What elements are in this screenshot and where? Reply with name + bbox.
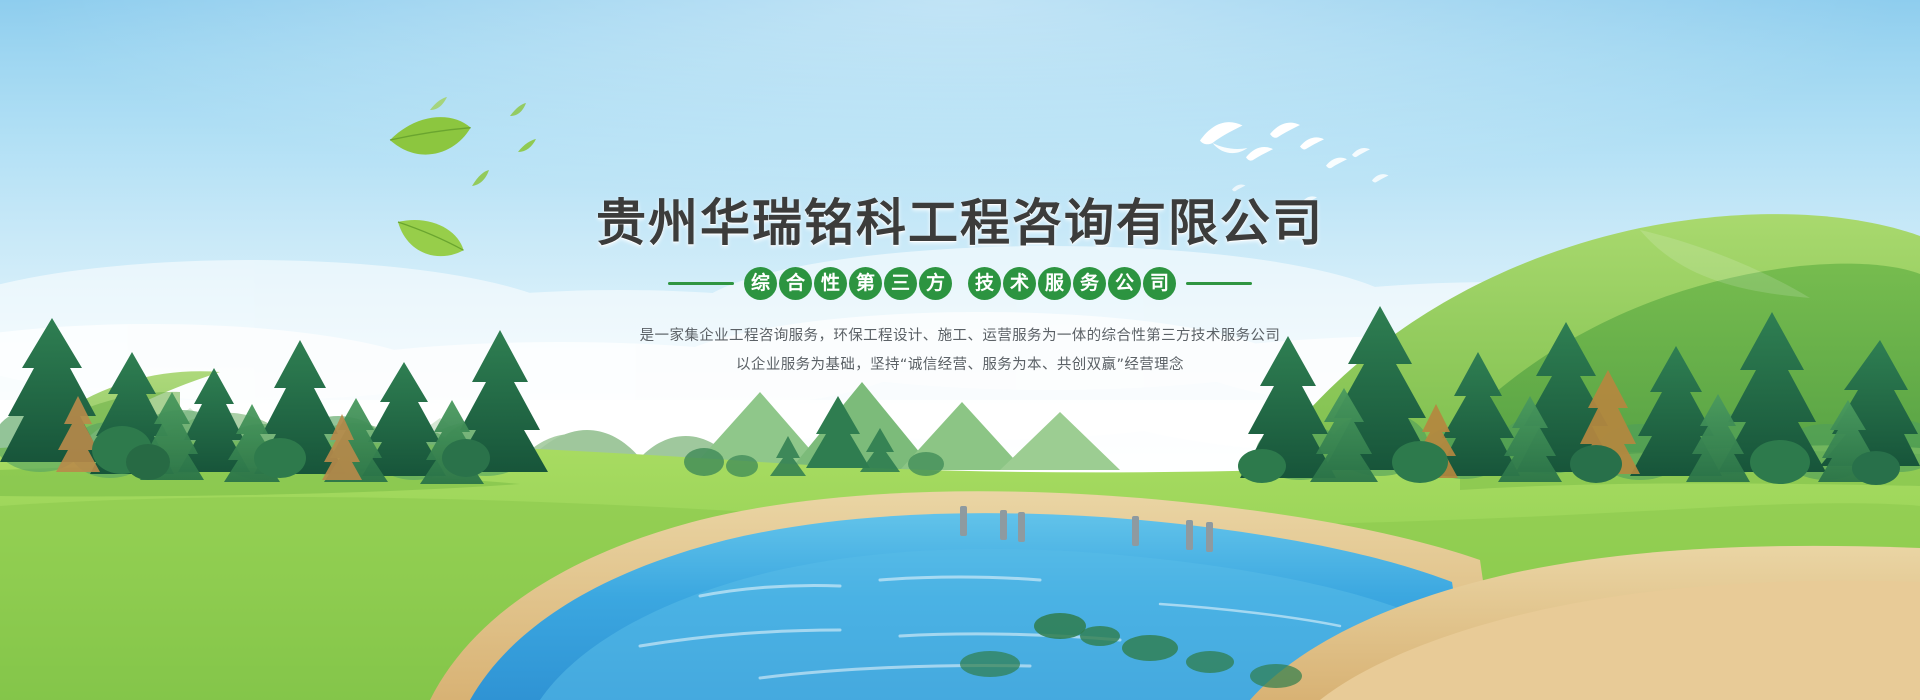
tagline-pill: 综 <box>744 267 777 300</box>
tagline-rule-right <box>1186 282 1252 285</box>
company-hero-banner: 贵州华瑞铭科工程咨询有限公司 综 合 性 第 三 方 技 术 服 务 公 司 是… <box>0 0 1920 700</box>
tagline-pill: 术 <box>1003 267 1036 300</box>
description-line-1: 是一家集企业工程咨询服务，环保工程设计、施工、运营服务为一体的综合性第三方技术服… <box>0 322 1920 351</box>
tagline-pill: 第 <box>849 267 882 300</box>
tagline-pill: 合 <box>779 267 812 300</box>
tagline-pill: 服 <box>1038 267 1071 300</box>
tagline-row: 综 合 性 第 三 方 技 术 服 务 公 司 <box>0 267 1920 300</box>
banner-content: 贵州华瑞铭科工程咨询有限公司 综 合 性 第 三 方 技 术 服 务 公 司 是… <box>0 0 1920 380</box>
description-line-2: 以企业服务为基础，坚持“诚信经营、服务为本、共创双赢”经营理念 <box>0 351 1920 380</box>
tagline-pills: 综 合 性 第 三 方 技 术 服 务 公 司 <box>744 267 1176 300</box>
banner-description: 是一家集企业工程咨询服务，环保工程设计、施工、运营服务为一体的综合性第三方技术服… <box>0 322 1920 380</box>
tagline-pill: 公 <box>1108 267 1141 300</box>
tagline-pill: 性 <box>814 267 847 300</box>
tagline-pill: 司 <box>1143 267 1176 300</box>
tagline-pill: 务 <box>1073 267 1106 300</box>
center-trees <box>684 396 944 477</box>
tagline-pill: 技 <box>968 267 1001 300</box>
tagline-rule-left <box>668 282 734 285</box>
tagline-pill: 方 <box>919 267 952 300</box>
tagline-pill: 三 <box>884 267 917 300</box>
page-title: 贵州华瑞铭科工程咨询有限公司 <box>0 196 1920 251</box>
